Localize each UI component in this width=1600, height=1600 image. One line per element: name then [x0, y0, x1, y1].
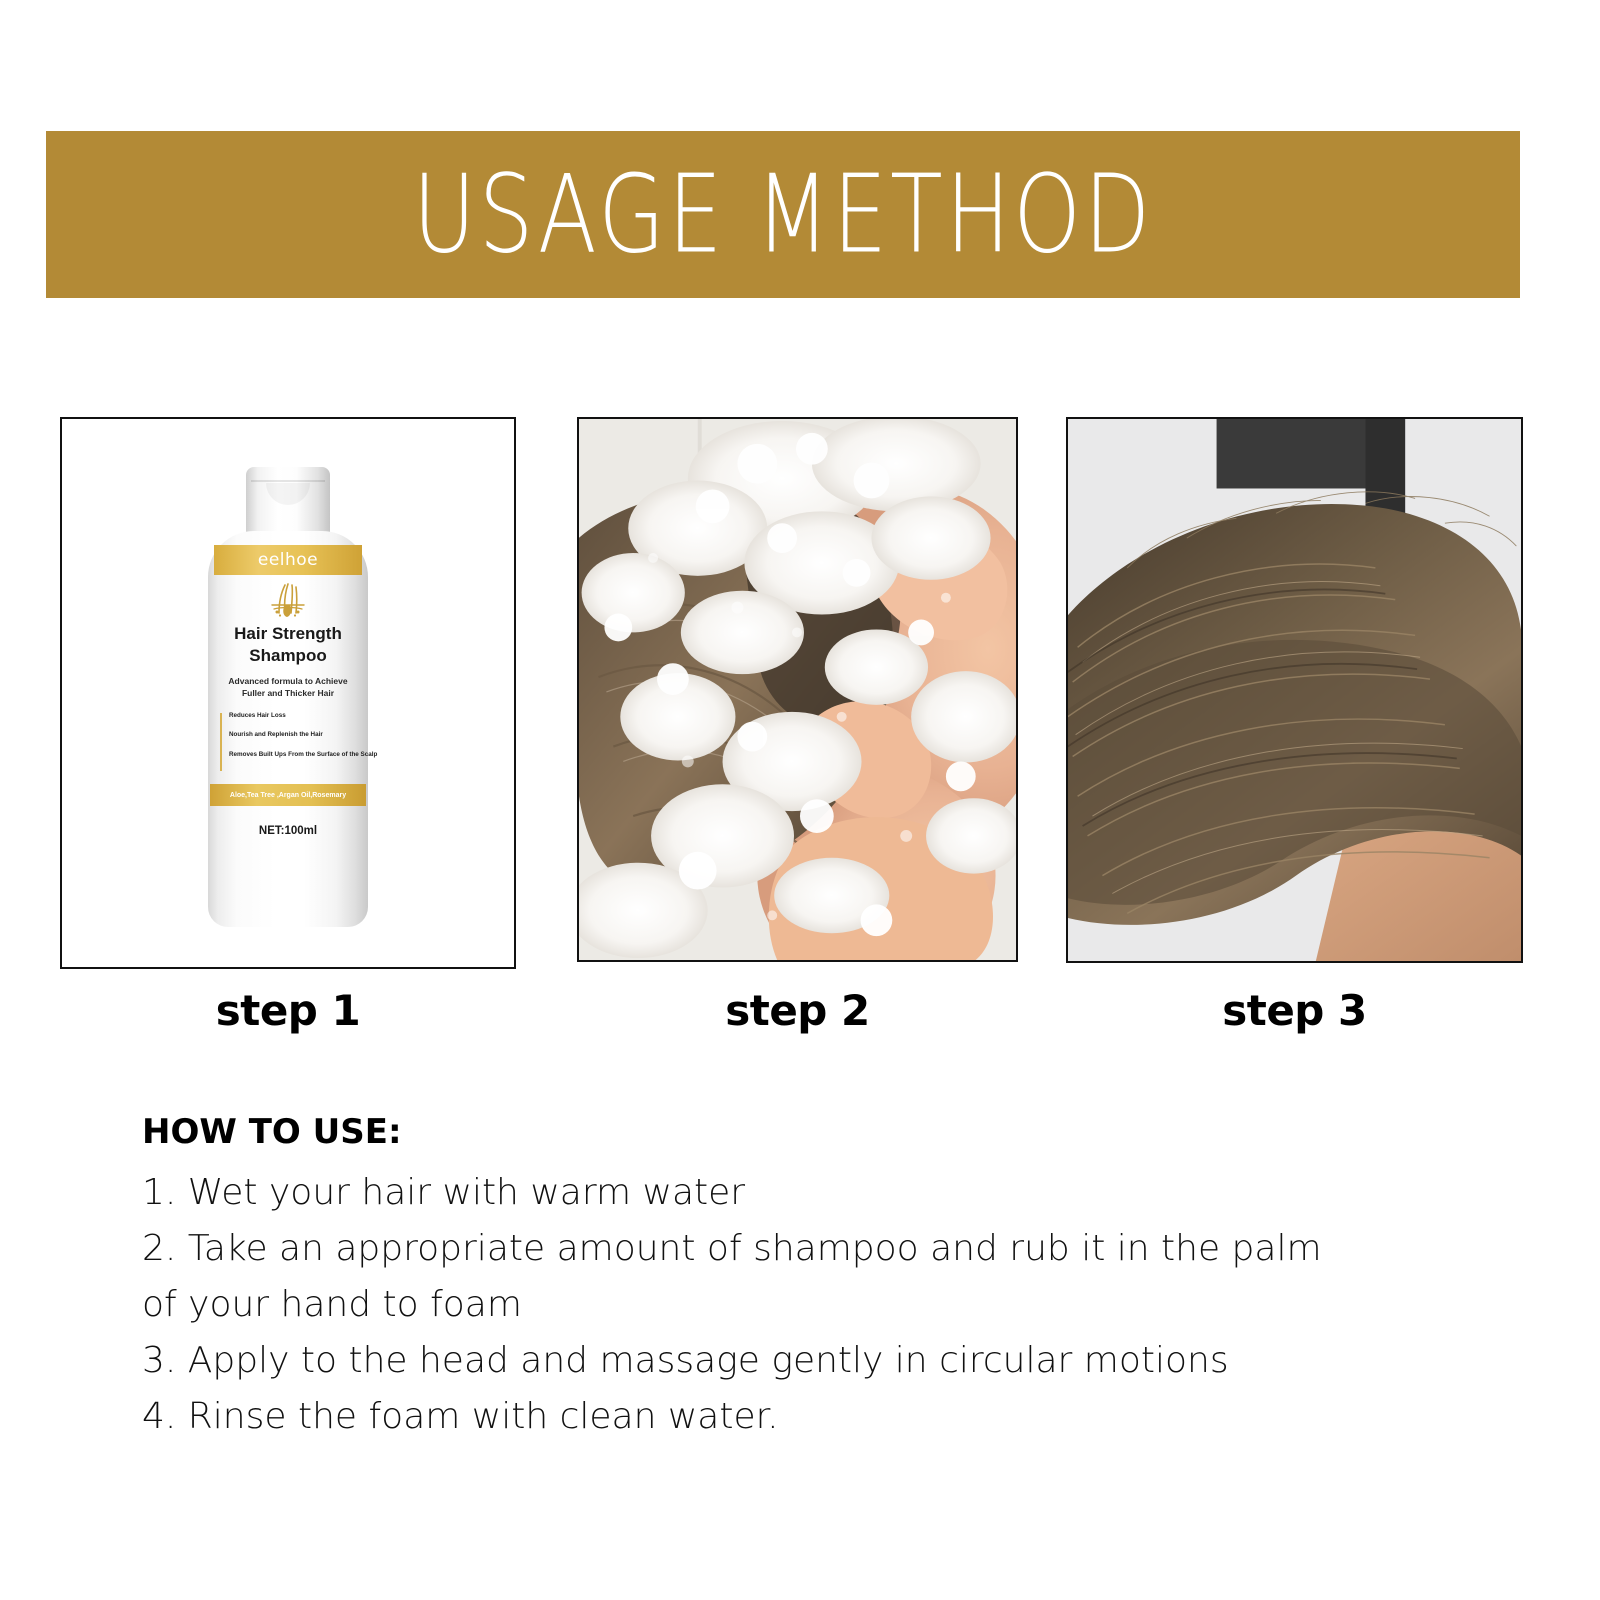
product-tagline: Advanced formula to Achieve Fuller and T…: [216, 675, 360, 700]
ingredient-list: Aloe,Tea Tree ,Argan Oil,Rosemary: [230, 792, 346, 799]
bottle-label: eelhoe: [208, 545, 368, 845]
shampoo-bottle-product-photo: eelhoe: [62, 419, 514, 967]
list-item: Nourish and Replenish the Hair: [229, 732, 360, 738]
step-3-caption: step 3: [1066, 990, 1523, 1032]
brand-name: eelhoe: [258, 550, 318, 570]
hair-follicle-icon: [266, 583, 310, 619]
list-item: Removes Built Ups From the Surface of th…: [229, 752, 360, 758]
product-name-line-1: Hair Strength: [216, 623, 360, 645]
how-to-use-line: 2. Take an appropriate amount of shampoo…: [142, 1231, 1482, 1267]
lathering-hair-photo: [579, 419, 1016, 960]
step-2-image-panel: [577, 417, 1018, 962]
shampoo-bottle: eelhoe: [208, 459, 368, 929]
ingredient-band: Aloe,Tea Tree ,Argan Oil,Rosemary: [210, 784, 366, 806]
tagline-line-2: Fuller and Thicker Hair: [216, 687, 360, 699]
how-to-use-line: of your hand to foam: [142, 1287, 1482, 1323]
clean-hair-closeup-photo: [1068, 419, 1521, 961]
tagline-line-1: Advanced formula to Achieve: [216, 675, 360, 687]
page-title: USAGE METHOD: [413, 161, 1153, 269]
bottle-cap: [246, 467, 330, 541]
how-to-use-section: HOW TO USE: 1. Wet your hair with warm w…: [142, 1115, 1482, 1455]
step-3-image-panel: [1066, 417, 1523, 963]
how-to-use-line: 3. Apply to the head and massage gently …: [142, 1343, 1482, 1379]
step-1-image-panel: eelhoe: [60, 417, 516, 969]
usage-method-banner: USAGE METHOD: [46, 131, 1520, 298]
product-name-line-2: Shampoo: [216, 645, 360, 667]
product-name: Hair Strength Shampoo: [216, 623, 360, 667]
brand-band: eelhoe: [214, 545, 362, 575]
list-item: Reduces Hair Loss: [229, 713, 360, 719]
step-images-row: eelhoe: [0, 417, 1600, 969]
step-captions-row: step 1 step 2 step 3: [0, 990, 1600, 1060]
step-2-caption: step 2: [577, 990, 1018, 1032]
step-1-caption: step 1: [60, 990, 516, 1032]
net-volume: NET:100ml: [208, 825, 368, 837]
how-to-use-heading: HOW TO USE:: [142, 1115, 1482, 1149]
how-to-use-line: 4. Rinse the foam with clean water.: [142, 1399, 1482, 1435]
product-benefits-list: Reduces Hair Loss Nourish and Replenish …: [220, 713, 360, 771]
how-to-use-line: 1. Wet your hair with warm water: [142, 1175, 1482, 1211]
cap-notch: [266, 483, 310, 505]
